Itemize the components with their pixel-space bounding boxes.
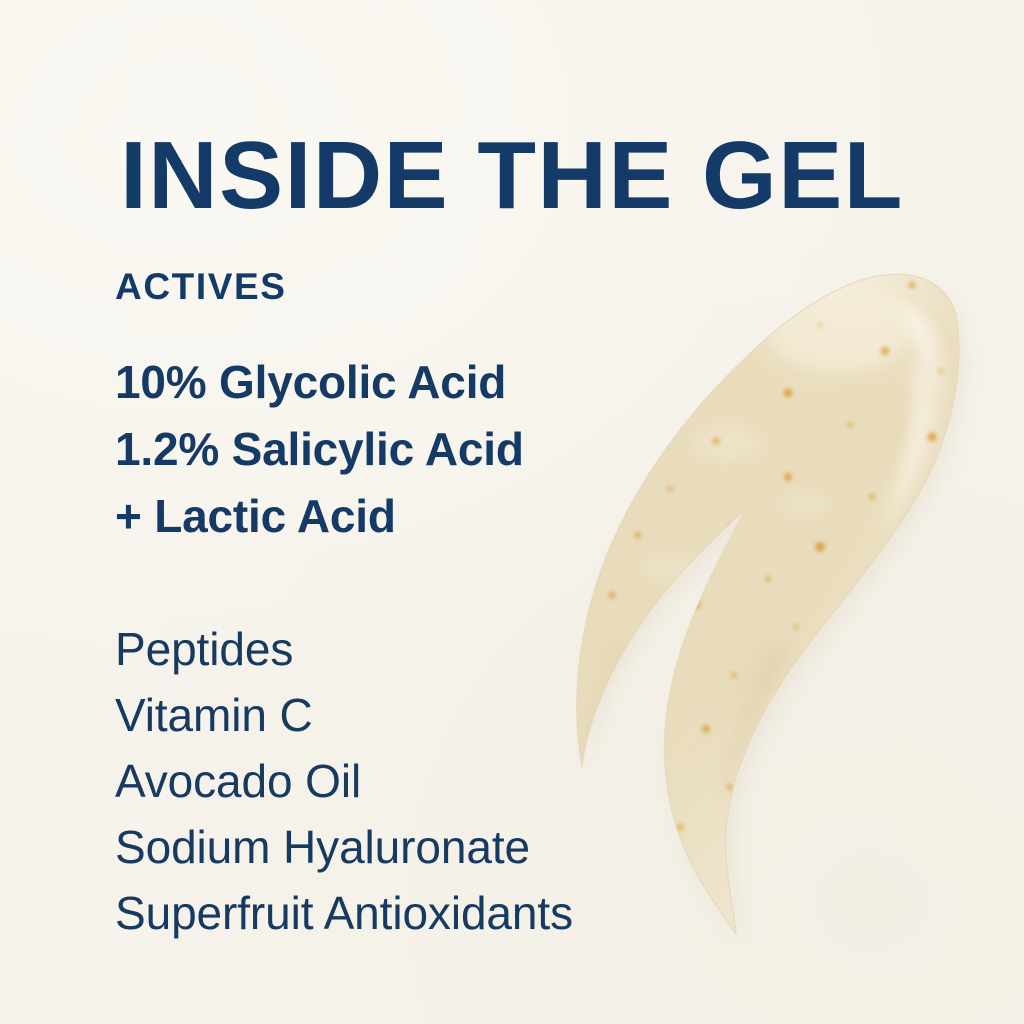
gel-speckle [815, 542, 825, 552]
gel-speckle [869, 494, 875, 500]
gel-speckle [855, 240, 865, 250]
infographic-canvas: INSIDE THE GEL [0, 0, 1024, 1024]
actives-list: 10% Glycolic Acid1.2% Salicylic Acid+ La… [115, 349, 675, 550]
ingredient-item: Sodium Hyaluronate [115, 814, 675, 880]
gel-speckle [712, 437, 719, 444]
active-ingredient-item: 1.2% Salicylic Acid [115, 416, 675, 483]
supporting-ingredients-list: PeptidesVitamin CAvocado OilSodium Hyalu… [115, 616, 675, 946]
gel-speckle [818, 323, 823, 328]
gel-speckle [767, 284, 773, 290]
ingredient-item: Superfruit Antioxidants [115, 880, 675, 946]
gel-speckle [847, 422, 853, 428]
gel-speckle [881, 347, 889, 355]
active-ingredient-item: + Lactic Acid [115, 483, 675, 550]
gel-speckle [928, 433, 937, 442]
gel-speckle [702, 725, 710, 733]
actives-heading: ACTIVES [115, 268, 675, 305]
gel-speckle [909, 282, 916, 289]
ingredient-item: Avocado Oil [115, 748, 675, 814]
gel-speckle [938, 368, 943, 373]
gel-speckle [731, 672, 737, 678]
active-ingredient-item: 10% Glycolic Acid [115, 349, 675, 416]
ingredient-item: Peptides [115, 616, 675, 682]
gel-speckle [722, 352, 728, 358]
gel-speckle [750, 849, 755, 854]
gel-speckle [793, 624, 799, 630]
ingredients-panel: ACTIVES 10% Glycolic Acid1.2% Salicylic … [115, 268, 675, 946]
gel-speckle [765, 576, 771, 582]
gel-speckle [784, 473, 792, 481]
gel-speckle [783, 388, 792, 397]
gel-speckle [727, 784, 733, 790]
ingredient-item: Vitamin C [115, 682, 675, 748]
